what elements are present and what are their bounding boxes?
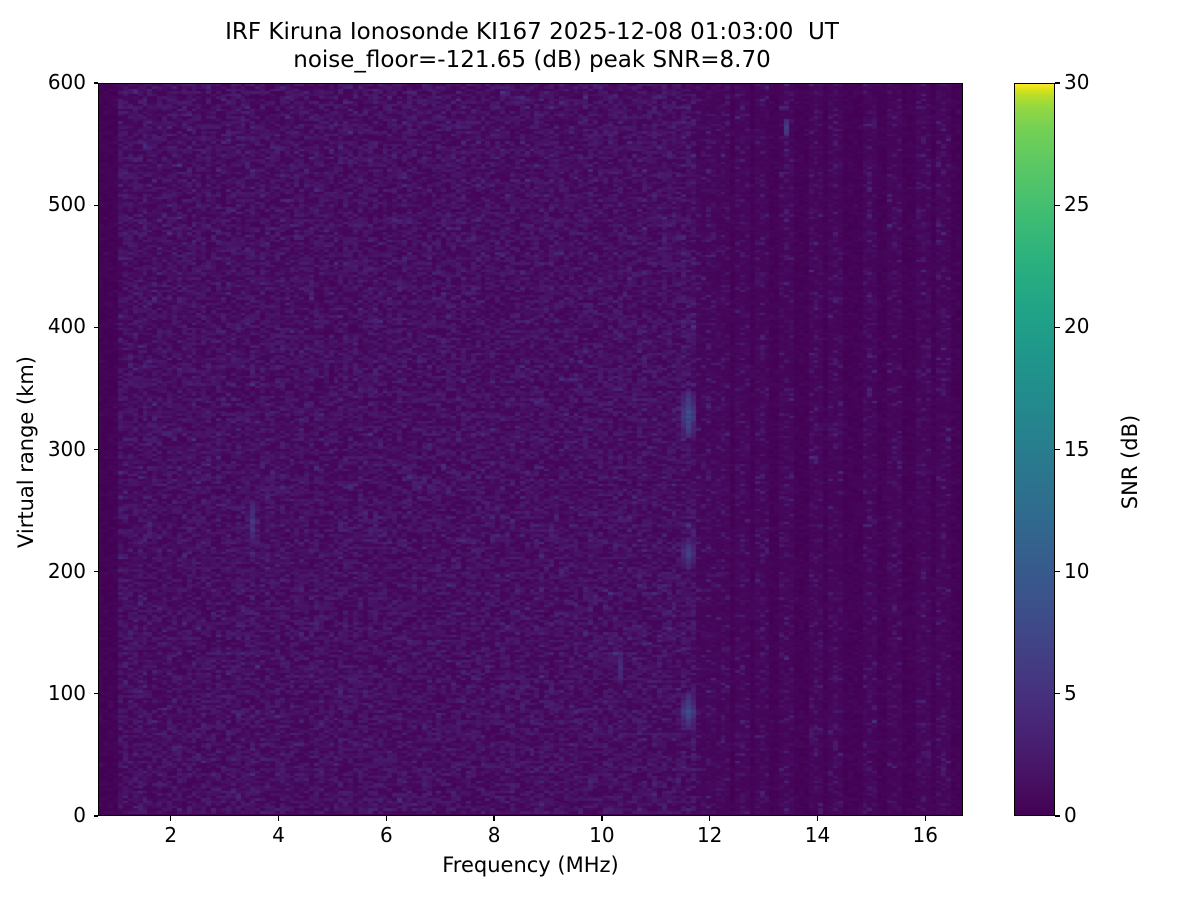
y-tick-label: 500 [48, 192, 86, 216]
y-tick-mark [94, 815, 99, 816]
chart-title: IRF Kiruna Ionosonde KI167 2025-12-08 01… [0, 18, 1064, 74]
title-line-1: IRF Kiruna Ionosonde KI167 2025-12-08 01… [0, 18, 1064, 46]
y-tick-label: 100 [48, 681, 86, 705]
colorbar-tick-label: 10 [1064, 559, 1089, 583]
colorbar-tick-mark [1055, 815, 1060, 816]
y-tick-mark [94, 327, 99, 328]
x-tick-label: 2 [141, 823, 201, 847]
y-tick-label: 0 [73, 803, 86, 827]
colorbar-tick-mark [1055, 693, 1060, 694]
y-axis-label: Virtual range (km) [14, 322, 38, 582]
snr-colorbar[interactable] [1014, 83, 1055, 816]
colorbar-tick-label: 15 [1064, 437, 1089, 461]
colorbar-tick-mark [1055, 327, 1060, 328]
y-tick-label: 600 [48, 70, 86, 94]
y-tick-mark [94, 693, 99, 694]
x-tick-label: 6 [356, 823, 416, 847]
colorbar-tick-mark [1055, 205, 1060, 206]
y-tick-label: 200 [48, 559, 86, 583]
colorbar-tick-mark [1055, 82, 1060, 83]
x-tick-mark [386, 816, 387, 821]
y-tick-mark [94, 205, 99, 206]
colorbar-tick-label: 5 [1064, 681, 1077, 705]
x-tick-mark [278, 816, 279, 821]
x-tick-mark [601, 816, 602, 821]
x-tick-label: 10 [572, 823, 632, 847]
colorbar-tick-label: 25 [1064, 192, 1089, 216]
title-line-2: noise_floor=-121.65 (dB) peak SNR=8.70 [0, 46, 1064, 74]
x-tick-mark [493, 816, 494, 821]
x-tick-mark [170, 816, 171, 821]
y-tick-label: 400 [48, 314, 86, 338]
colorbar-label: SNR (dB) [1118, 332, 1142, 592]
y-tick-mark [94, 82, 99, 83]
colorbar-tick-label: 20 [1064, 314, 1089, 338]
y-tick-label: 300 [48, 437, 86, 461]
colorbar-tick-label: 30 [1064, 70, 1089, 94]
heatmap-plot-area[interactable] [98, 83, 963, 816]
colorbar-tick-mark [1055, 449, 1060, 450]
x-tick-mark [709, 816, 710, 821]
x-tick-mark [925, 816, 926, 821]
x-tick-label: 4 [249, 823, 309, 847]
colorbar-tick-mark [1055, 571, 1060, 572]
x-tick-label: 8 [464, 823, 524, 847]
x-tick-mark [817, 816, 818, 821]
y-tick-mark [94, 449, 99, 450]
x-tick-label: 12 [680, 823, 740, 847]
colorbar-tick-label: 0 [1064, 803, 1077, 827]
x-tick-label: 16 [895, 823, 955, 847]
x-tick-label: 14 [787, 823, 847, 847]
y-tick-mark [94, 571, 99, 572]
x-axis-label: Frequency (MHz) [98, 853, 963, 877]
ionogram-figure: IRF Kiruna Ionosonde KI167 2025-12-08 01… [0, 0, 1200, 900]
ionogram-heatmap [99, 84, 961, 814]
